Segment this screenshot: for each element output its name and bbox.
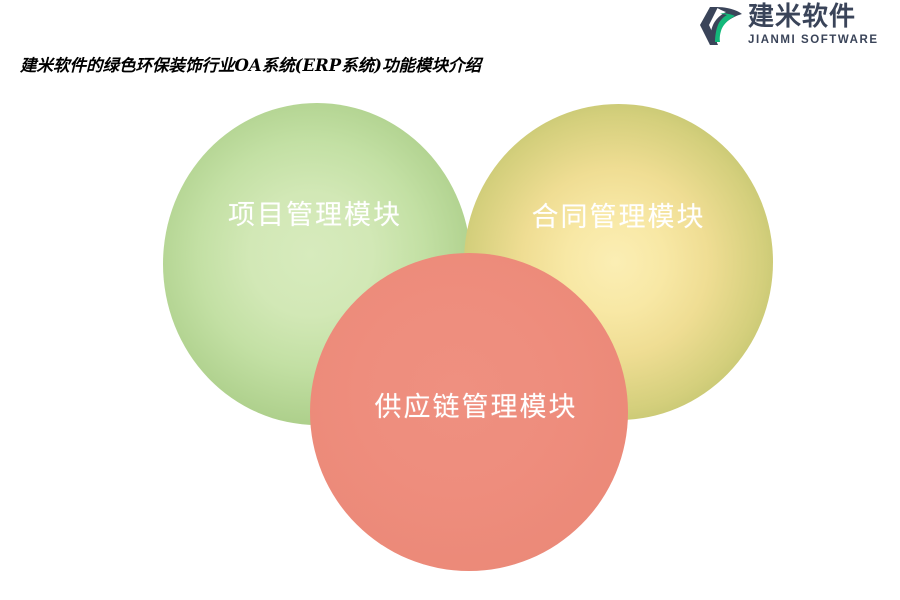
bubble-label-project-management: 项目管理模块 xyxy=(228,193,402,232)
brand-name-en: JIANMI SOFTWARE xyxy=(748,33,894,47)
brand-logo: 建米软件 JIANMI SOFTWARE xyxy=(692,2,892,56)
module-venn-diagram: 项目管理模块 合同管理模块 供应链管理模块 xyxy=(0,80,900,600)
brand-wordmark: 建米软件 JIANMI SOFTWARE xyxy=(748,2,894,47)
bubble-label-contract-management: 合同管理模块 xyxy=(532,195,706,234)
brand-name-cn: 建米软件 xyxy=(748,3,894,31)
bubble-supply-chain-management[interactable]: 供应链管理模块 xyxy=(310,253,628,571)
jianmi-leaf-logo-icon xyxy=(696,4,744,48)
page-title: 建米软件的绿色环保装饰行业OA系统(ERP系统)功能模块介绍 xyxy=(20,52,481,76)
bubble-label-supply-chain-management: 供应链管理模块 xyxy=(375,385,578,424)
